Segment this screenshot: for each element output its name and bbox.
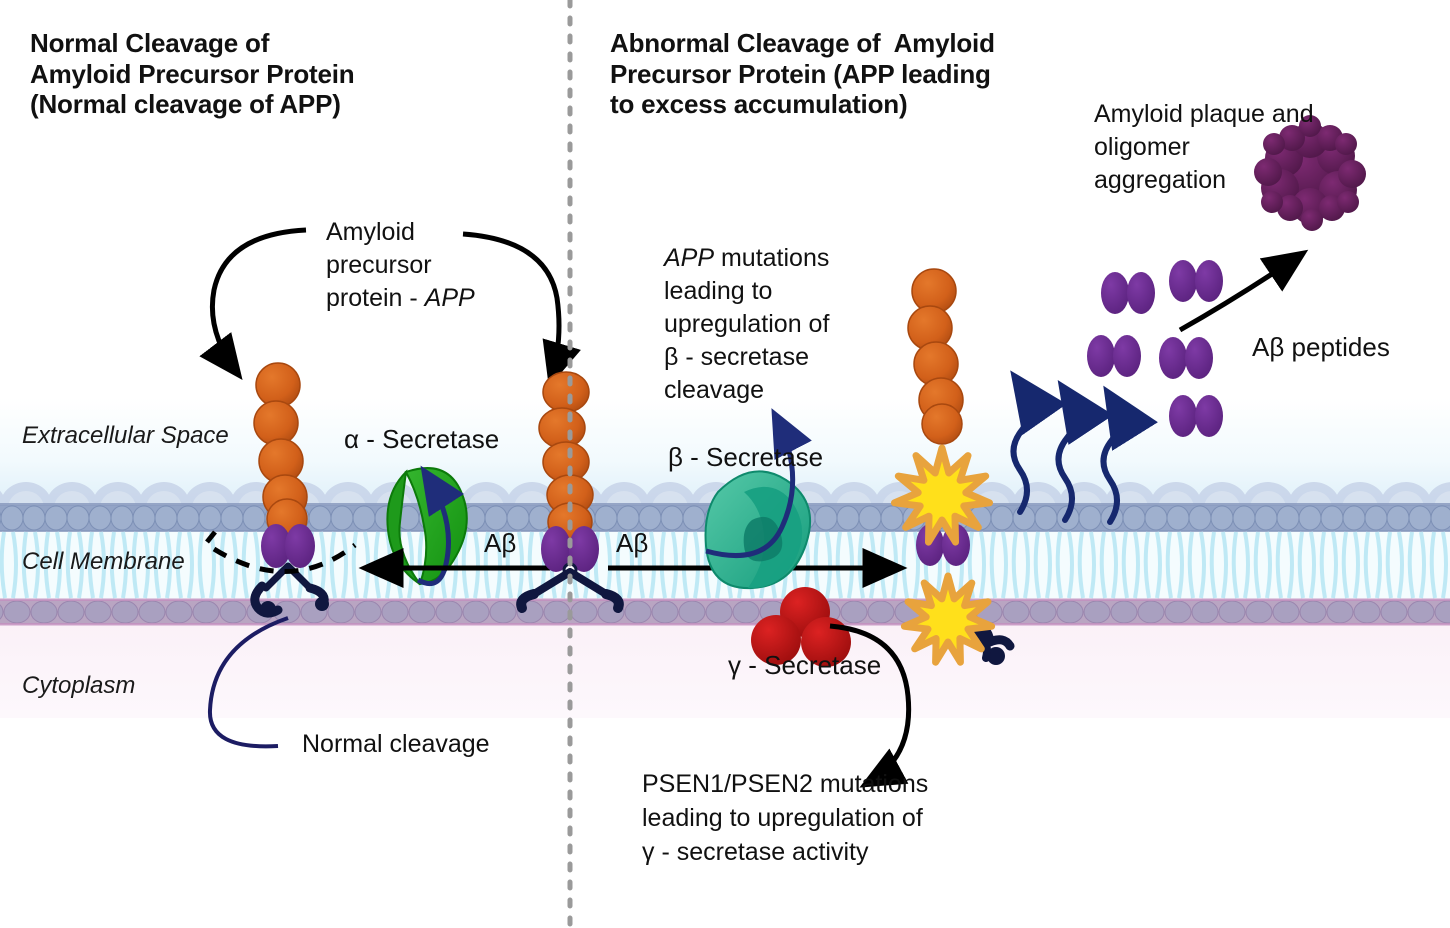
plaque-label-line1: Amyloid plaque and <box>1094 100 1314 130</box>
diagram-canvas: Normal Cleavage of Amyloid Precursor Pro… <box>0 0 1450 928</box>
abeta-label-left: Aβ <box>484 528 516 559</box>
plaque-label-line3: aggregation <box>1094 166 1226 196</box>
abeta-dimer-icon <box>1169 260 1223 302</box>
app-mutations-line1: APP mutations <box>664 244 829 274</box>
normal-cleavage-label: Normal cleavage <box>302 730 490 760</box>
abeta-dimer-icon <box>1159 337 1213 379</box>
title-right: Abnormal Cleavage of Amyloid Precursor P… <box>610 28 995 120</box>
cell-membrane-label: Cell Membrane <box>22 548 185 576</box>
app-mutations-line4: β - secretase <box>664 343 809 373</box>
app-label-arrow-right <box>463 234 559 380</box>
alpha-secretase-label: α - Secretase <box>344 424 499 455</box>
app-mutations-line3: upregulation of <box>664 310 829 340</box>
app-mutations-gene: APP <box>664 244 714 272</box>
abeta-dimer-icon <box>1087 335 1141 377</box>
psen-line2: leading to upregulation of <box>642 804 923 834</box>
cytoplasm-label: Cytoplasm <box>22 672 135 700</box>
amyloid-plaque-icon <box>1254 115 1366 231</box>
app-mutations-line5: cleavage <box>664 376 764 406</box>
beta-secretase-label: β - Secretase <box>668 442 823 473</box>
app-mutations-line2: leading to <box>664 277 772 307</box>
extracellular-space-label: Extracellular Space <box>22 422 229 450</box>
title-left: Normal Cleavage of Amyloid Precursor Pro… <box>30 28 354 120</box>
psen-line3: γ - secretase activity <box>642 838 868 868</box>
app-mutations-rest: mutations <box>714 244 829 272</box>
app-label-italic: APP <box>425 284 475 312</box>
app-label-line3: protein - APP <box>326 284 475 314</box>
psen-line1: PSEN1/PSEN2 mutations <box>642 770 928 800</box>
abeta-peptides-label: Aβ peptides <box>1252 332 1390 363</box>
app-label-line1: Amyloid <box>326 218 415 248</box>
app-label-line2: precursor <box>326 251 432 281</box>
plaque-label-line2: oligomer <box>1094 133 1190 163</box>
app-label-arrow-left <box>212 230 306 374</box>
gamma-secretase-label: γ - Secretase <box>728 650 881 681</box>
abeta-label-right: Aβ <box>616 528 648 559</box>
abeta-dimer-icon <box>1101 272 1155 314</box>
app-label-plain: protein - <box>326 284 425 312</box>
